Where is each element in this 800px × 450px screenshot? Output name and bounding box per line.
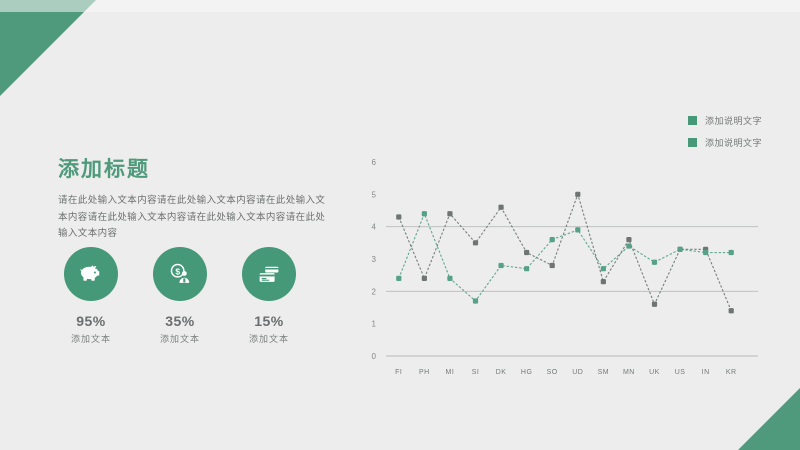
x-axis-tick-label: DK	[496, 369, 507, 376]
stat-label: 添加文本	[240, 332, 298, 345]
stat-percent: 15%	[240, 313, 298, 329]
data-point[interactable]	[447, 276, 452, 281]
data-point[interactable]	[729, 250, 734, 255]
slide-canvas: 添加标题 请在此处输入文本内容请在此处输入文本内容请在此处输入文本内容请在此处输…	[0, 0, 800, 450]
data-point[interactable]	[729, 308, 734, 313]
y-axis-tick-label: 5	[372, 190, 377, 199]
x-axis-tick-label: SI	[472, 369, 480, 376]
chart-legend: 添加说明文字 添加说明文字	[688, 114, 762, 149]
y-axis-tick-label: 3	[372, 255, 377, 264]
line-chart: 添加说明文字 添加说明文字 0123456FIPHMISIDKHGSOUDSMM…	[360, 100, 780, 390]
x-axis-tick-label: KR	[726, 369, 737, 376]
legend-swatch-icon	[688, 116, 697, 125]
stat-label: 添加文本	[62, 332, 120, 345]
data-point[interactable]	[473, 240, 478, 245]
stat-percent: 95%	[62, 313, 120, 329]
data-point[interactable]	[422, 276, 427, 281]
data-point[interactable]	[575, 192, 580, 197]
stat-item[interactable]: $ 35% 添加文本	[151, 247, 209, 345]
svg-text:$: $	[175, 266, 180, 276]
decorative-corner-top-left	[0, 0, 96, 96]
y-axis-tick-label: 1	[372, 320, 377, 329]
y-axis-tick-label: 4	[372, 223, 377, 232]
data-point[interactable]	[626, 243, 631, 248]
x-axis-tick-label: UD	[572, 369, 583, 376]
data-point[interactable]	[575, 227, 580, 232]
plot-area: 0123456FIPHMISIDKHGSOUDSMMNUKUSINKR	[360, 148, 780, 388]
credit-card-icon	[254, 259, 284, 289]
data-point[interactable]	[601, 279, 606, 284]
money-person-icon: $	[165, 259, 195, 289]
stat-item[interactable]: 15% 添加文本	[240, 247, 298, 345]
data-point[interactable]	[601, 266, 606, 271]
piggy-bank-icon	[76, 259, 106, 289]
stat-item[interactable]: 95% 添加文本	[62, 247, 120, 345]
stat-icon-circle	[64, 247, 118, 301]
data-point[interactable]	[703, 250, 708, 255]
y-axis-tick-label: 6	[372, 158, 377, 167]
stat-label: 添加文本	[151, 332, 209, 345]
data-point[interactable]	[524, 250, 529, 255]
legend-label: 添加说明文字	[705, 114, 762, 127]
stat-icon-circle	[242, 247, 296, 301]
x-axis-tick-label: HG	[521, 369, 533, 376]
data-point[interactable]	[396, 214, 401, 219]
legend-item[interactable]: 添加说明文字	[688, 114, 762, 127]
x-axis-tick-label: MI	[446, 369, 455, 376]
decorative-corner-bottom-right	[738, 388, 800, 450]
data-point[interactable]	[473, 298, 478, 303]
x-axis-tick-label: US	[675, 369, 686, 376]
data-point[interactable]	[550, 263, 555, 268]
legend-swatch-icon	[688, 138, 697, 147]
decorative-top-band	[0, 0, 800, 12]
stat-percent: 35%	[151, 313, 209, 329]
data-point[interactable]	[498, 205, 503, 210]
y-axis-tick-label: 2	[372, 287, 377, 296]
x-axis-tick-label: PH	[419, 369, 430, 376]
x-axis-tick-label: FI	[395, 369, 402, 376]
data-point[interactable]	[422, 211, 427, 216]
x-axis-tick-label: MN	[623, 369, 635, 376]
x-axis-tick-label: SM	[598, 369, 610, 376]
y-axis-tick-label: 0	[372, 352, 377, 361]
left-content-panel: 添加标题 请在此处输入文本内容请在此处输入文本内容请在此处输入文本内容请在此处输…	[58, 158, 348, 243]
data-point[interactable]	[447, 211, 452, 216]
page-title: 添加标题	[58, 158, 348, 181]
data-point[interactable]	[498, 263, 503, 268]
x-axis-tick-label: SO	[547, 369, 558, 376]
data-point[interactable]	[652, 260, 657, 265]
data-point[interactable]	[396, 276, 401, 281]
x-axis-tick-label: UK	[649, 369, 660, 376]
x-axis-tick-label: IN	[702, 369, 710, 376]
data-point[interactable]	[524, 266, 529, 271]
data-point[interactable]	[626, 237, 631, 242]
stat-icon-circle: $	[153, 247, 207, 301]
stats-row: 95% 添加文本 $ 35% 添加文本	[62, 247, 342, 345]
plot-svg: 0123456FIPHMISIDKHGSOUDSMMNUKUSINKR	[360, 148, 780, 388]
data-point[interactable]	[652, 302, 657, 307]
data-point[interactable]	[550, 237, 555, 242]
body-paragraph: 请在此处输入文本内容请在此处输入文本内容请在此处输入文本内容请在此处输入文本内容…	[58, 193, 330, 243]
data-point[interactable]	[677, 247, 682, 252]
